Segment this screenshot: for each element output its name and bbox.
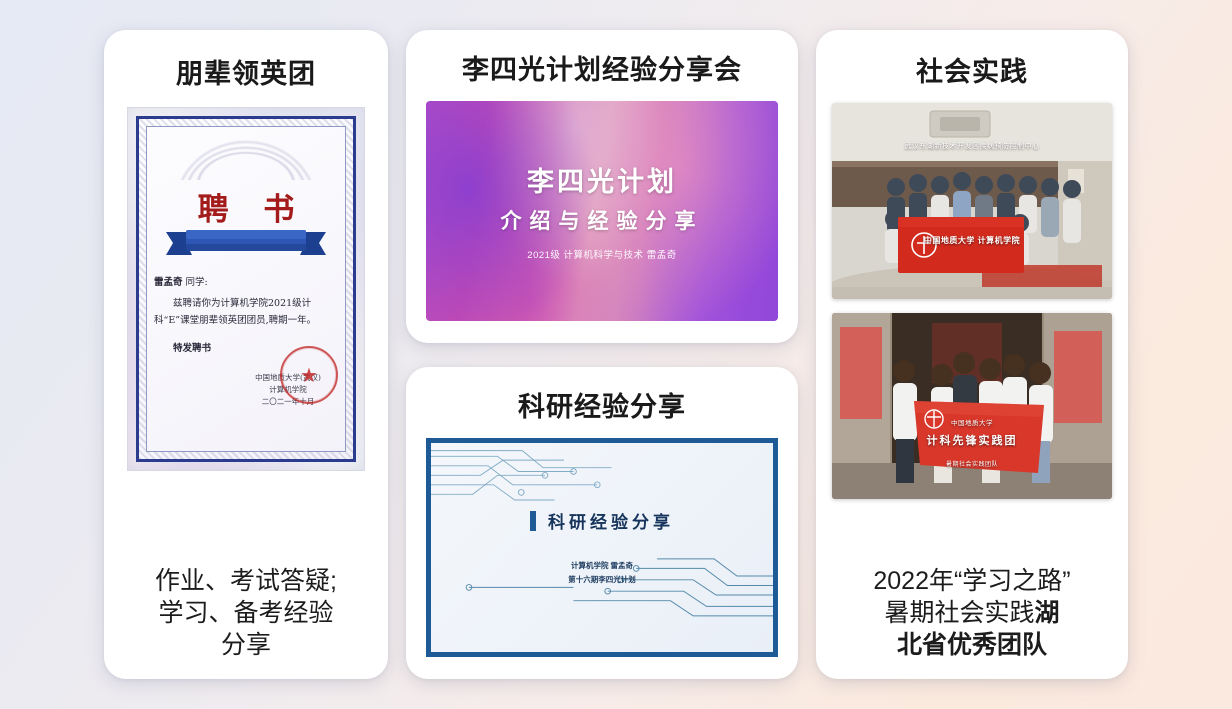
certificate-body-text: 兹聘请你为计算机学院2021级计科“E”课堂朋辈领英团团员,聘期一年。 [154, 295, 342, 330]
certificate-name-suffix: 同学: [183, 277, 208, 288]
slide-heading: 李四光计划 [501, 160, 704, 199]
certificate-recipient-name: 雷孟奇 [154, 277, 183, 288]
slide-subheading: 介绍与经验分享 [501, 205, 704, 235]
slide-byline: 计算机学院 雷孟奇 第十六期李四光计划 [530, 559, 674, 588]
slide-lisiguang-plan[interactable]: 李四光计划 介绍与经验分享 2021级 计算机科学与技术 雷孟奇 [426, 101, 778, 321]
photo-practice-team-graphic [832, 313, 1112, 499]
card-caption-social-practice: 2022年“学习之路” 暑期社会实践湖 北省优秀团队 [832, 551, 1112, 661]
certificate-body: 雷孟奇 同学: 兹聘请你为计算机学院2021级计科“E”课堂朋辈领英团团员,聘期… [154, 274, 342, 357]
photo-banner-sub-text: 暑期社会实践团队 [832, 459, 1112, 468]
ribbon-icon [166, 228, 326, 258]
photo-practice-team[interactable]: 中国地质大学 计科先锋实践团 暑期社会实践团队 [832, 313, 1112, 499]
photo-banner-text: 中国地质大学 计算机学院 [832, 235, 1112, 246]
column-sharing-sessions: 李四光计划经验分享会 李四光计划 介绍与经验分享 2021级 计算机科学与技术 … [396, 30, 808, 679]
slide-byline: 2021级 计算机科学与技术 雷孟奇 [501, 247, 704, 261]
card-title-peer-mentoring: 朋辈领英团 [118, 52, 374, 91]
card-title-lisiguang-plan: 李四光计划经验分享会 [426, 48, 778, 87]
card-lisiguang-plan[interactable]: 李四光计划经验分享会 李四光计划 介绍与经验分享 2021级 计算机科学与技术 … [406, 30, 798, 343]
certificate-fan-ornament [161, 128, 331, 180]
column-peer-mentoring: 朋辈领英团 聘 书 [96, 30, 396, 679]
column-social-practice: 社会实践 [808, 30, 1136, 679]
byline-line-2: 第十六期李四光计划 [530, 573, 674, 587]
caption-line-2: 暑期社会实践湖 [832, 597, 1112, 629]
slide-text-block: 李四光计划 介绍与经验分享 2021级 计算机科学与技术 雷孟奇 [501, 160, 704, 261]
card-title-social-practice: 社会实践 [832, 50, 1112, 89]
slide-text-block: 科研经验分享 计算机学院 雷孟奇 第十六期李四光计划 [530, 508, 674, 588]
slide-research-sharing[interactable]: 科研经验分享 计算机学院 雷孟奇 第十六期李四光计划 [426, 438, 778, 658]
slide-heading: 科研经验分享 [530, 508, 674, 533]
photo-banner-main-text: 计科先锋实践团 [832, 432, 1112, 448]
caption-line-3: 北省优秀团队 [832, 629, 1112, 661]
red-seal-icon: ★ [280, 346, 338, 404]
caption-line-2-normal: 暑期社会实践 [884, 599, 1034, 627]
certificate-wrapper: 聘 书 雷孟奇 同学: 兹聘请你为计算机学院2021级计科“E”课堂朋辈领英团团… [118, 107, 374, 471]
caption-line-2-strong: 湖 [1035, 599, 1060, 627]
card-peer-mentoring[interactable]: 朋辈领英团 聘 书 [104, 30, 388, 679]
caption-line-2: 学习、备考经验 [118, 597, 374, 629]
card-title-research-sharing: 科研经验分享 [426, 385, 778, 424]
photo-wall-caption: 武汉东湖新技术开发区疾病预防控制中心 [832, 141, 1112, 151]
certificate-heading: 聘 书 [128, 184, 364, 229]
photo-cdc-group[interactable]: 武汉东湖新技术开发区疾病预防控制中心 中国地质大学 计算机学院 [832, 103, 1112, 299]
card-research-sharing[interactable]: 科研经验分享 [406, 367, 798, 680]
card-caption-peer-mentoring: 作业、考试答疑; 学习、备考经验 分享 [118, 551, 374, 661]
byline-line-1: 计算机学院 雷孟奇 [530, 559, 674, 573]
poster-board: 朋辈领英团 聘 书 [0, 0, 1232, 709]
card-social-practice[interactable]: 社会实践 [816, 30, 1128, 679]
issuer-date: 二〇二一年十月 [232, 396, 344, 408]
photo-cdc-group-graphic [832, 103, 1112, 299]
photo-banner-top-text: 中国地质大学 [832, 417, 1112, 427]
caption-line-1: 2022年“学习之路” [832, 565, 1112, 597]
certificate-image[interactable]: 聘 书 雷孟奇 同学: 兹聘请你为计算机学院2021级计科“E”课堂朋辈领英团团… [127, 107, 365, 471]
caption-line-3: 分享 [118, 629, 374, 661]
caption-line-1: 作业、考试答疑; [118, 565, 374, 597]
